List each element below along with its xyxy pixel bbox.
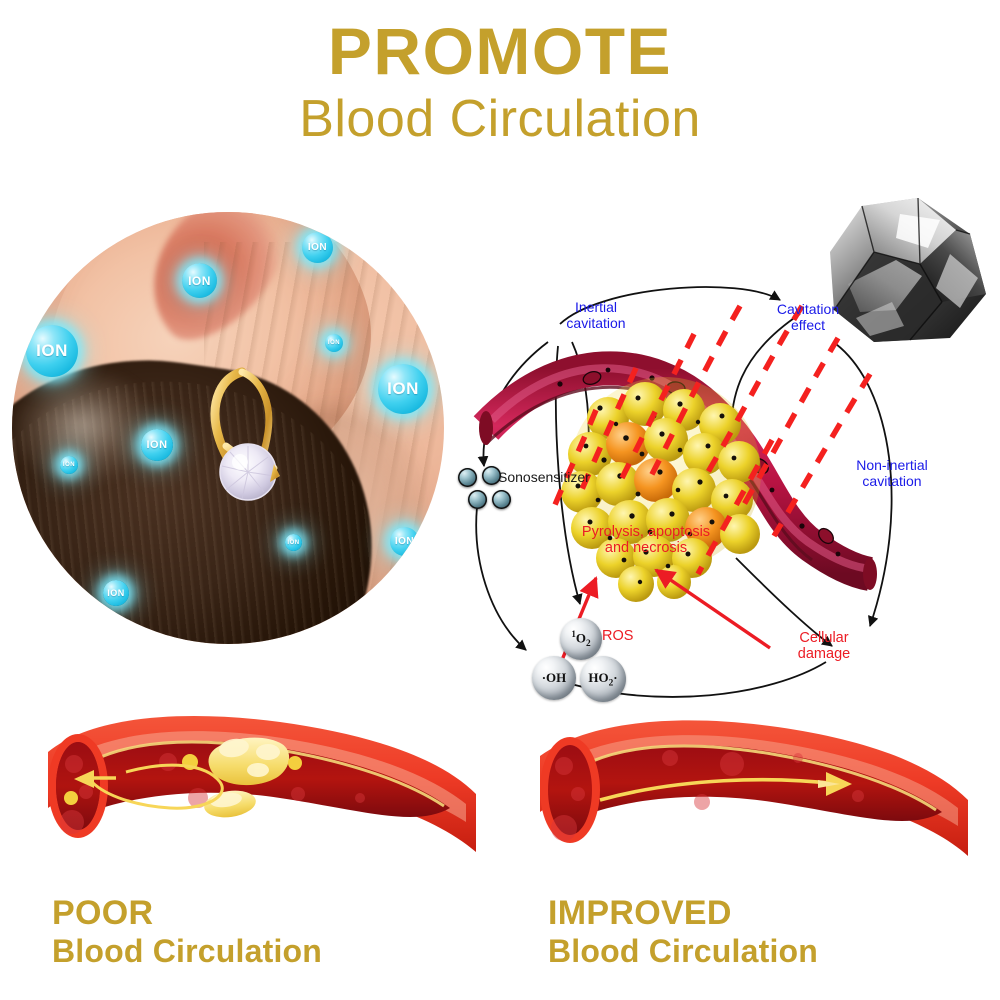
sonosensitizer-particle [482, 466, 501, 485]
ear-with-ion-earring-photo: IONIONIONIONIONIONIONIONIONION [12, 212, 444, 644]
improved-blood-circulation-vessel [520, 700, 970, 880]
ion-bubble: ION [302, 232, 333, 263]
label-cavitation-effect: Cavitation effect [762, 302, 854, 333]
poor-circulation-caption: POOR Blood Circulation [52, 896, 322, 969]
page-title: PROMOTE [0, 18, 1000, 84]
label-ros: ROS [602, 628, 658, 644]
improved-caption-subtitle: Blood Circulation [548, 934, 818, 969]
sonosensitizer-particle [492, 490, 511, 509]
poor-blood-circulation-vessel [30, 700, 480, 880]
poor-caption-title: POOR [52, 896, 322, 932]
label-sonosensitizer: Sonosensitizer [498, 470, 618, 486]
page-header: PROMOTE Blood Circulation [0, 0, 1000, 150]
molecule-hydroxyl-radical: ·OH [532, 656, 576, 700]
ion-bubble: ION [378, 364, 428, 414]
improved-caption-title: IMPROVED [548, 896, 818, 932]
label-pyrolysis-apoptosis-necrosis: Pyrolysis, apoptosis and necrosis [558, 524, 734, 556]
poor-caption-subtitle: Blood Circulation [52, 934, 322, 969]
page-subtitle: Blood Circulation [0, 90, 1000, 150]
sonosensitizer-particle [458, 468, 477, 487]
ion-bubble: ION [285, 534, 302, 551]
sonodynamic-cavitation-mechanism-diagram: Inertial cavitation Cavitation effect No… [440, 258, 950, 708]
molecule-singlet-oxygen: 1O2 [560, 618, 602, 660]
gold-crystal-earring [190, 360, 320, 520]
ion-bubble: ION [325, 334, 343, 352]
ion-bubble: ION [141, 429, 173, 461]
molecule-hydroperoxyl-radical: HO2· [580, 656, 626, 702]
label-non-inertial-cavitation: Non-inertial cavitation [840, 458, 944, 489]
tumor-cell-cluster [561, 377, 761, 602]
ion-bubble: ION [182, 263, 217, 298]
ion-bubble: ION [390, 527, 419, 556]
ion-bubble: ION [26, 325, 78, 377]
improved-circulation-caption: IMPROVED Blood Circulation [548, 896, 818, 969]
ion-bubble: ION [103, 580, 129, 606]
ion-bubble: ION [60, 456, 78, 474]
label-cellular-damage: Cellular damage [780, 630, 868, 662]
sonosensitizer-particle [468, 490, 487, 509]
label-inertial-cavitation: Inertial cavitation [548, 300, 644, 331]
